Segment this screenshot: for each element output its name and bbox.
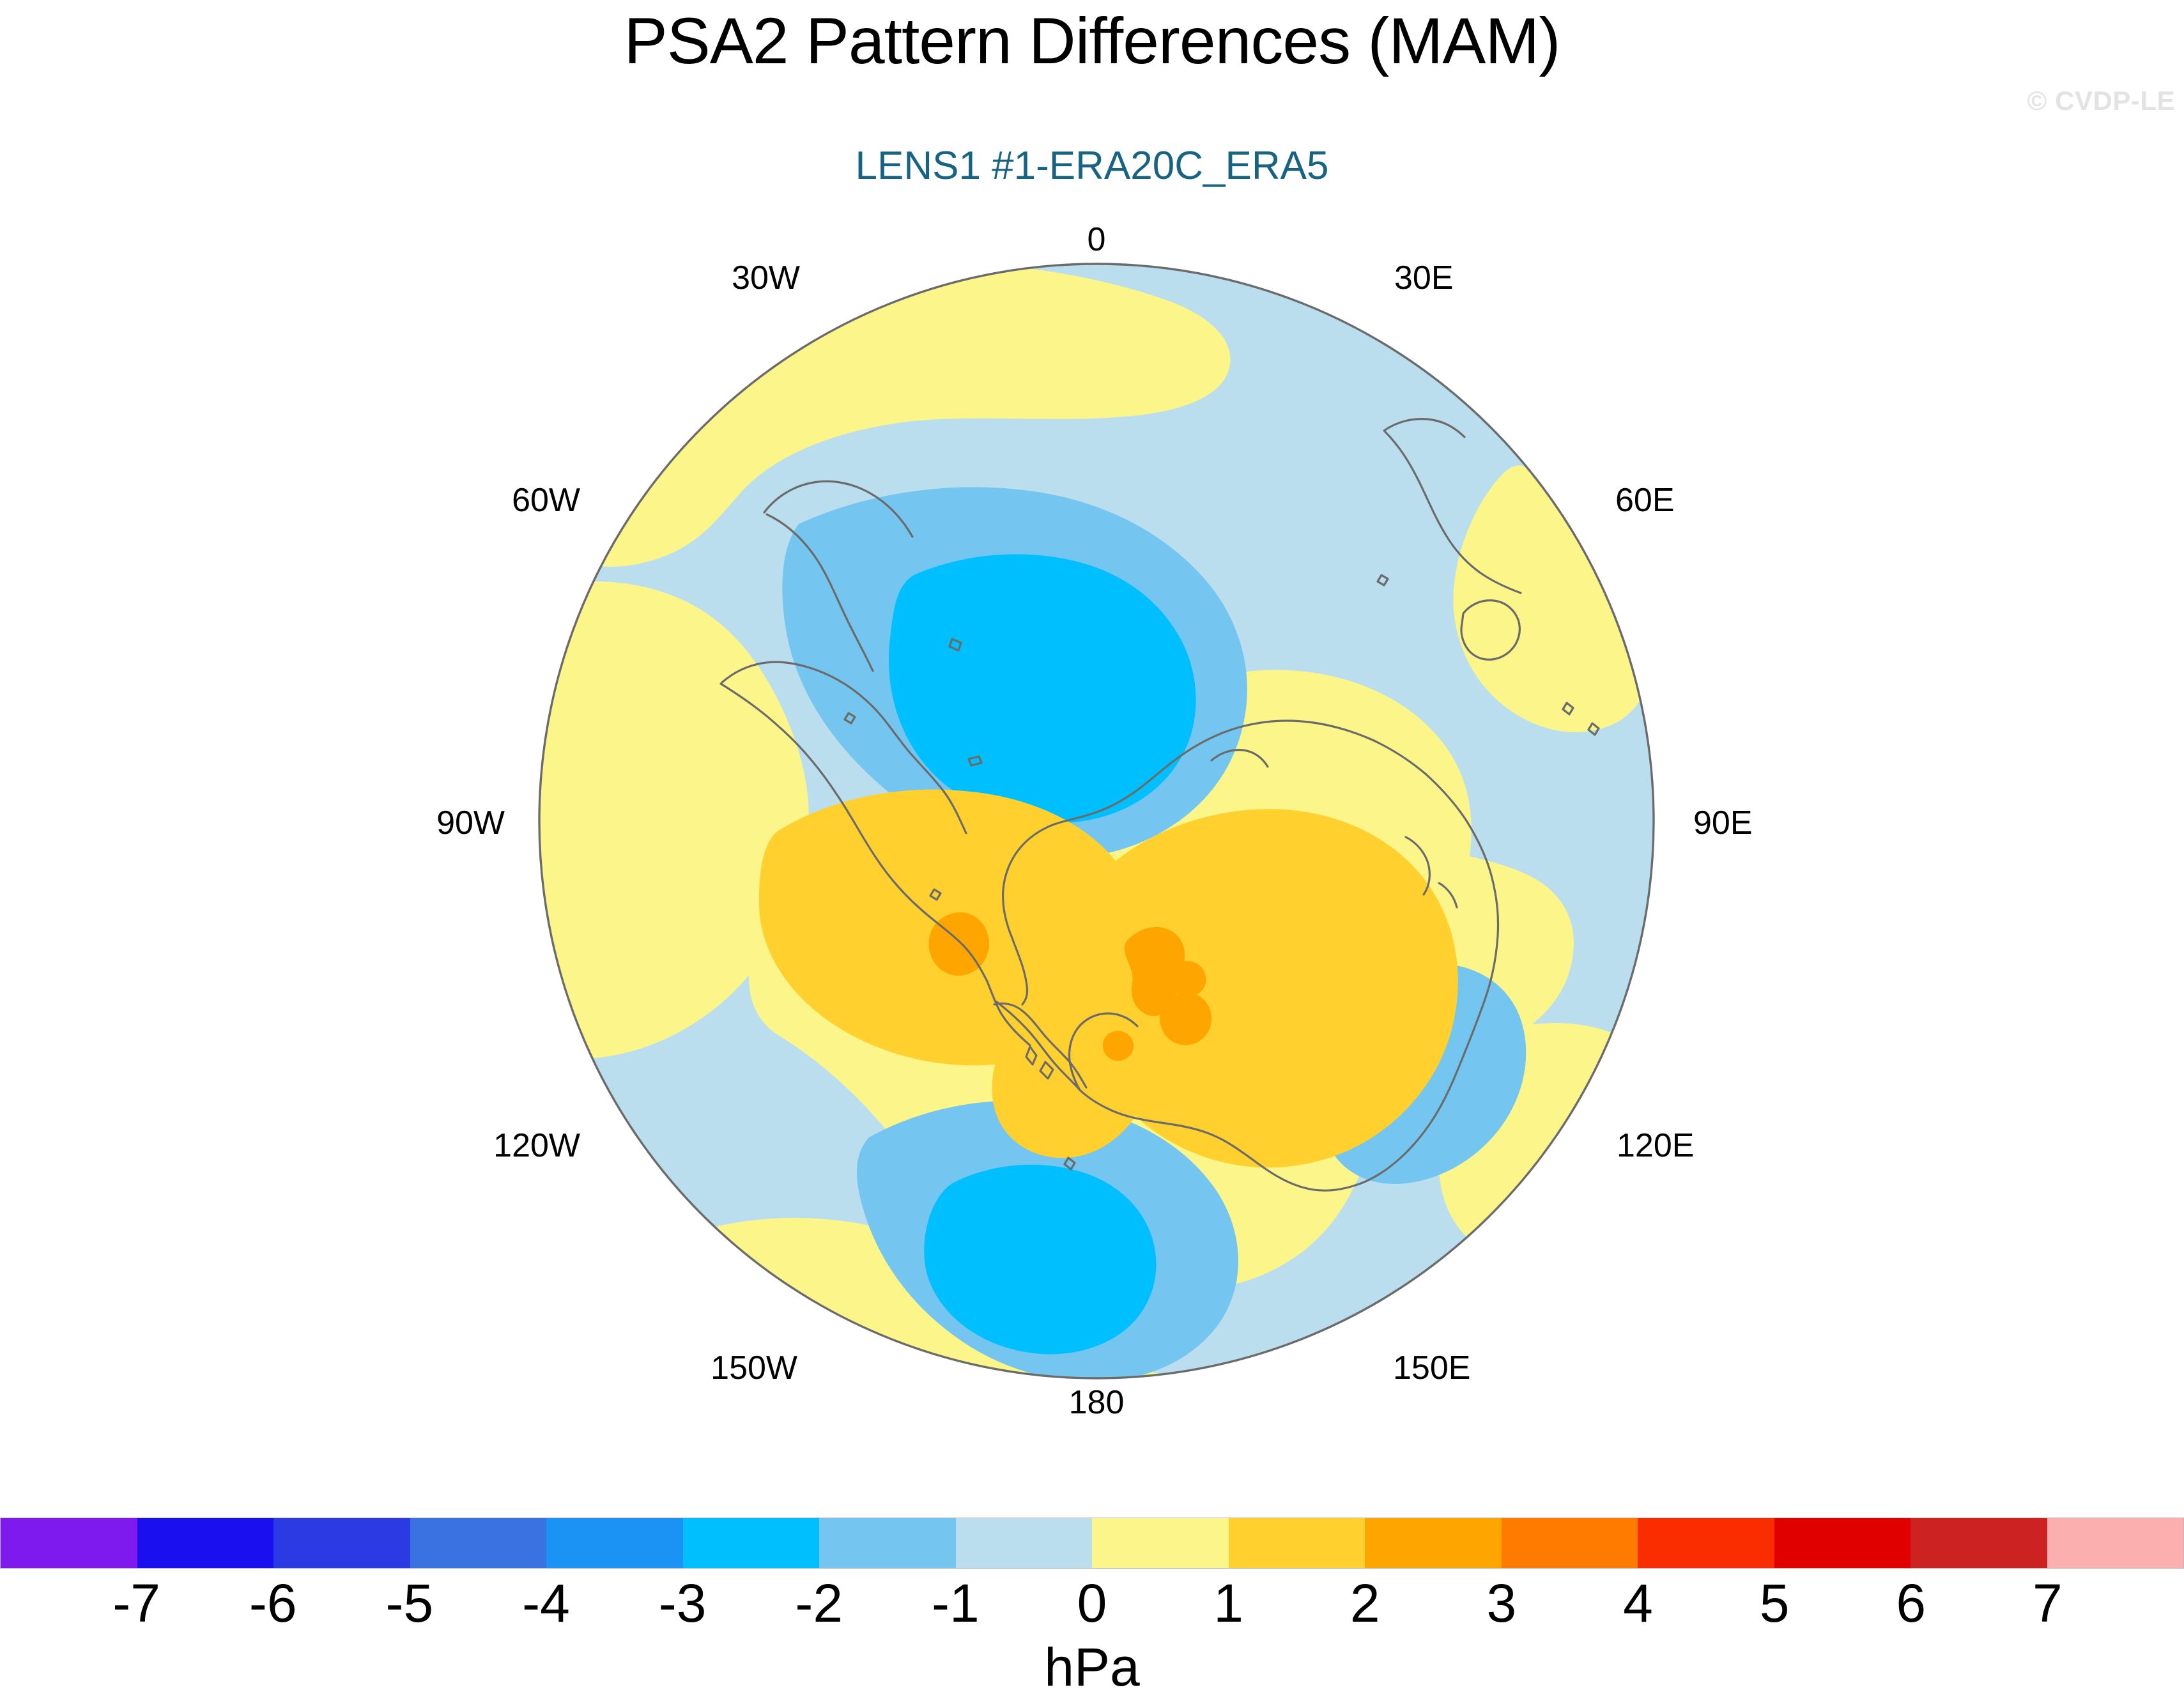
polar-map-panel: 0 30E 60E 90E 120E 150E 180 150W 120W 90… [0, 192, 2184, 1470]
colorbar-band-9 [1229, 1518, 1365, 1568]
polar-stereographic-map: 0 30E 60E 90E 120E 150E 180 150W 120W 90… [0, 192, 2184, 1470]
colorbar-tick--1: -1 [932, 1572, 980, 1634]
colorbar-strip [0, 1518, 2184, 1569]
colorbar-tick--2: -2 [795, 1572, 843, 1634]
colorbar-tick-2: 2 [1350, 1572, 1380, 1634]
colorbar-band-5 [683, 1518, 820, 1568]
colorbar-tick--7: -7 [112, 1572, 160, 1634]
lon-label-60E: 60E [1615, 482, 1675, 519]
lon-label-60W: 60W [512, 482, 580, 519]
colorbar-band-15 [2047, 1518, 2184, 1568]
colorbar-band-4 [546, 1518, 683, 1568]
lon-label-30E: 30E [1394, 259, 1454, 296]
page-title: PSA2 Pattern Differences (MAM) [0, 4, 2184, 79]
fill-band-3-to-4-antarctic-core-d [1103, 1031, 1134, 1061]
colorbar-tick-4: 4 [1623, 1572, 1653, 1634]
colorbar-tick--3: -3 [659, 1572, 707, 1634]
lon-label-120E: 120E [1617, 1127, 1694, 1164]
colorbar-band-14 [1911, 1518, 2047, 1568]
lon-label-180: 180 [1069, 1384, 1125, 1421]
colorbar-tick-0: 0 [1077, 1572, 1107, 1634]
lon-label-30W: 30W [732, 259, 800, 296]
colorbar-band-1 [137, 1518, 274, 1568]
colorbar-band-7 [956, 1518, 1093, 1568]
colorbar-tick-3: 3 [1487, 1572, 1517, 1634]
colorbar-tick-5: 5 [1760, 1572, 1790, 1634]
colorbar-band-6 [819, 1518, 956, 1568]
fill-band-3-to-4-antarctic-core-c [1160, 993, 1211, 1045]
lon-label-150W: 150W [711, 1349, 797, 1387]
colorbar-tick-1: 1 [1213, 1572, 1243, 1634]
lon-label-90W: 90W [436, 804, 505, 842]
colorbar-band-3 [410, 1518, 547, 1568]
colorbar-tick-6: 6 [1896, 1572, 1926, 1634]
contour-fill-layer [511, 243, 1693, 1443]
colorbar-band-8 [1092, 1518, 1229, 1568]
colorbar-band-11 [1502, 1518, 1638, 1568]
colorbar-tick--4: -4 [522, 1572, 570, 1634]
fill-band-3-to-4-antarctic-core-b [1169, 961, 1206, 997]
lon-label-150E: 150E [1393, 1349, 1470, 1387]
colorbar-tick--6: -6 [249, 1572, 297, 1634]
colorbar-band-10 [1365, 1518, 1502, 1568]
colorbar-tick--5: -5 [386, 1572, 434, 1634]
colorbar-tick-7: 7 [2033, 1572, 2063, 1634]
colorbar-tick-labels: -7-6-5-4-3-2-101234567 [0, 1572, 2184, 1630]
lon-label-0: 0 [1088, 221, 1106, 258]
colorbar-units-label: hPa [0, 1636, 2184, 1698]
colorbar-band-12 [1638, 1518, 1774, 1568]
lon-label-90E: 90E [1693, 804, 1753, 842]
colorbar-band-13 [1774, 1518, 1911, 1568]
chart-subtitle: LENS1 #1-ERA20C_ERA5 [0, 143, 2184, 188]
lon-label-120W: 120W [493, 1127, 580, 1164]
colorbar-band-2 [273, 1518, 410, 1568]
watermark-label: © CVDP-LE [2027, 86, 2175, 116]
colorbar-panel: -7-6-5-4-3-2-101234567 hPa [0, 1518, 2184, 1699]
colorbar-band-0 [1, 1518, 137, 1568]
